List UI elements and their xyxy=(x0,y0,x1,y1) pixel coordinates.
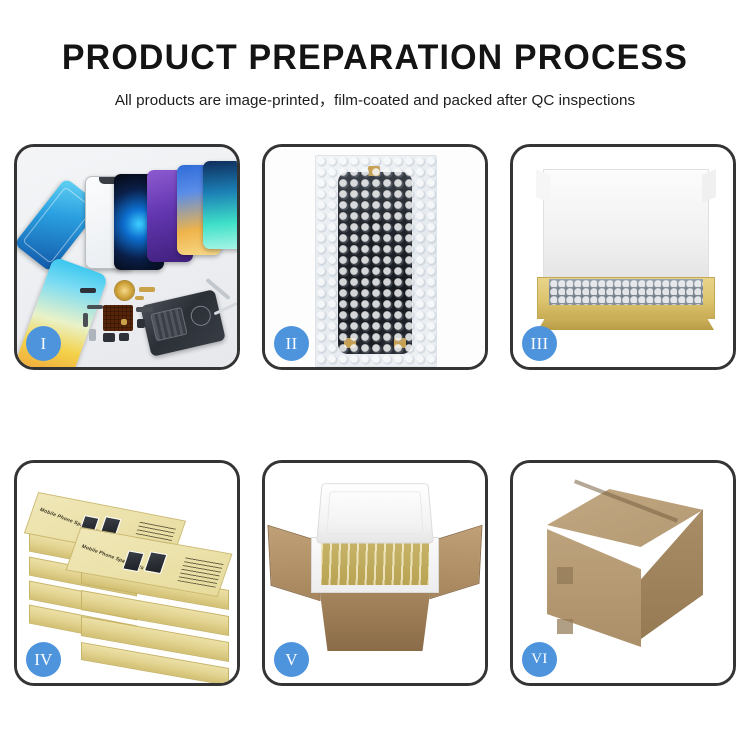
yellow-boxes-inside xyxy=(321,543,429,585)
small-part xyxy=(139,287,155,292)
small-part xyxy=(80,288,96,293)
carton-tape-patch xyxy=(557,619,573,634)
connector-tab xyxy=(344,338,356,348)
product-preparation-infographic: PRODUCT PREPARATION PROCESS All products… xyxy=(0,0,750,750)
teal-phone-image xyxy=(203,161,237,249)
step-badge-3: III xyxy=(522,326,557,361)
small-part xyxy=(103,333,115,342)
poly-bag-image xyxy=(315,155,437,367)
flex-cable-image xyxy=(369,220,382,348)
screw-grid-part xyxy=(103,305,133,331)
small-part xyxy=(135,296,144,300)
box-print-thumb xyxy=(144,551,168,574)
small-part xyxy=(136,307,153,312)
foam-lid-open xyxy=(316,483,434,543)
foam-lid-image xyxy=(543,169,709,281)
box-stack-image: Mobile Phone Spare Parts Mobile Phone Sp… xyxy=(27,477,233,673)
small-part xyxy=(89,329,96,341)
connector-tab xyxy=(394,338,406,348)
small-part xyxy=(119,333,129,341)
small-part xyxy=(83,313,88,327)
page-title: PRODUCT PREPARATION PROCESS xyxy=(11,40,739,75)
header: PRODUCT PREPARATION PROCESS All products… xyxy=(0,0,750,110)
small-part xyxy=(137,319,145,328)
screen-assembly-image xyxy=(338,172,412,354)
process-step-5: V xyxy=(262,460,488,686)
carton-tape-patch xyxy=(557,567,573,584)
step-badge-5: V xyxy=(274,642,309,677)
process-step-6: VI xyxy=(510,460,736,686)
step-badge-4: IV xyxy=(26,642,61,677)
connector-tab xyxy=(368,166,380,176)
wrapped-contents-image xyxy=(549,279,703,305)
step-badge-1: I xyxy=(26,326,61,361)
process-step-1: I xyxy=(14,144,240,370)
box-print-textlines xyxy=(177,556,224,588)
small-part xyxy=(87,305,103,309)
charging-coil-part xyxy=(115,281,134,300)
process-step-2: II xyxy=(262,144,488,370)
page-subtitle: All products are image-printed，film-coat… xyxy=(0,88,750,110)
process-step-3: III xyxy=(510,144,736,370)
process-step-4: Mobile Phone Spare Parts Mobile Phone Sp… xyxy=(14,460,240,686)
step-badge-2: II xyxy=(274,326,309,361)
small-part xyxy=(121,319,127,325)
process-step-grid: I II xyxy=(14,144,736,686)
step-badge-6: VI xyxy=(522,642,557,677)
bubble-texture xyxy=(549,279,703,305)
